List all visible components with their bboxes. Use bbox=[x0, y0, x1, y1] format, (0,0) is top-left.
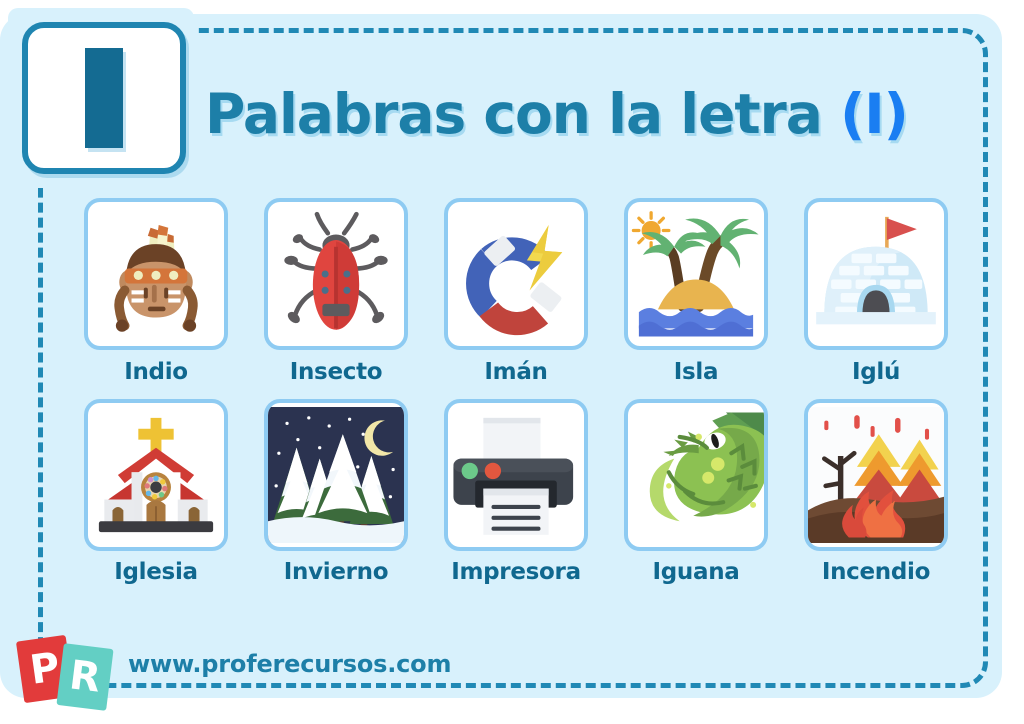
letter-badge bbox=[22, 22, 186, 174]
printer-icon bbox=[448, 403, 584, 547]
page-title: Palabras con la letra (I) bbox=[205, 82, 908, 146]
proferecursos-logo[interactable]: P R bbox=[16, 636, 124, 704]
letter-i-glyph bbox=[85, 48, 123, 148]
card-image-incendio bbox=[804, 399, 948, 551]
word-label: Invierno bbox=[264, 559, 408, 585]
logo-tile-r: R bbox=[56, 643, 113, 711]
word-label: Insecto bbox=[264, 359, 408, 385]
winter-forest-icon bbox=[268, 403, 404, 547]
card-image-invierno bbox=[264, 399, 408, 551]
word-card-iglu[interactable]: Iglú bbox=[804, 198, 948, 385]
card-image-iguana bbox=[624, 399, 768, 551]
word-label: Indio bbox=[84, 359, 228, 385]
word-card-grid: Indio bbox=[84, 198, 948, 585]
word-label: Iglesia bbox=[84, 559, 228, 585]
card-image-iman bbox=[444, 198, 588, 350]
iguana-icon bbox=[628, 403, 764, 547]
word-card-iguana[interactable]: Iguana bbox=[624, 399, 768, 585]
card-image-isla bbox=[624, 198, 768, 350]
island-icon bbox=[628, 202, 764, 346]
word-label: Impresora bbox=[444, 559, 588, 585]
word-card-incendio[interactable]: Incendio bbox=[804, 399, 948, 585]
word-label: Iglú bbox=[804, 359, 948, 385]
card-image-indio bbox=[84, 198, 228, 350]
word-card-insecto[interactable]: Insecto bbox=[264, 198, 408, 385]
magnet-icon bbox=[448, 202, 584, 346]
page-title-accent: (I) bbox=[840, 82, 908, 146]
page-title-main: Palabras con la letra bbox=[205, 82, 822, 146]
word-label: Incendio bbox=[804, 559, 948, 585]
card-image-iglesia bbox=[84, 399, 228, 551]
word-card-iman[interactable]: Imán bbox=[444, 198, 588, 385]
word-label: Imán bbox=[444, 359, 588, 385]
website-url[interactable]: www.proferecursos.com bbox=[128, 650, 451, 678]
wildfire-icon bbox=[808, 403, 944, 547]
worksheet-page: Palabras con la letra (I) bbox=[0, 0, 1024, 724]
card-image-iglu bbox=[804, 198, 948, 350]
word-label: Iguana bbox=[624, 559, 768, 585]
word-card-invierno[interactable]: Invierno bbox=[264, 399, 408, 585]
word-card-impresora[interactable]: Impresora bbox=[444, 399, 588, 585]
igloo-icon bbox=[808, 202, 944, 346]
native-american-icon bbox=[88, 202, 224, 346]
card-image-insecto bbox=[264, 198, 408, 350]
church-icon bbox=[88, 403, 224, 547]
word-card-iglesia[interactable]: Iglesia bbox=[84, 399, 228, 585]
word-label: Isla bbox=[624, 359, 768, 385]
card-image-impresora bbox=[444, 399, 588, 551]
beetle-icon bbox=[268, 202, 404, 346]
word-card-isla[interactable]: Isla bbox=[624, 198, 768, 385]
word-card-indio[interactable]: Indio bbox=[84, 198, 228, 385]
